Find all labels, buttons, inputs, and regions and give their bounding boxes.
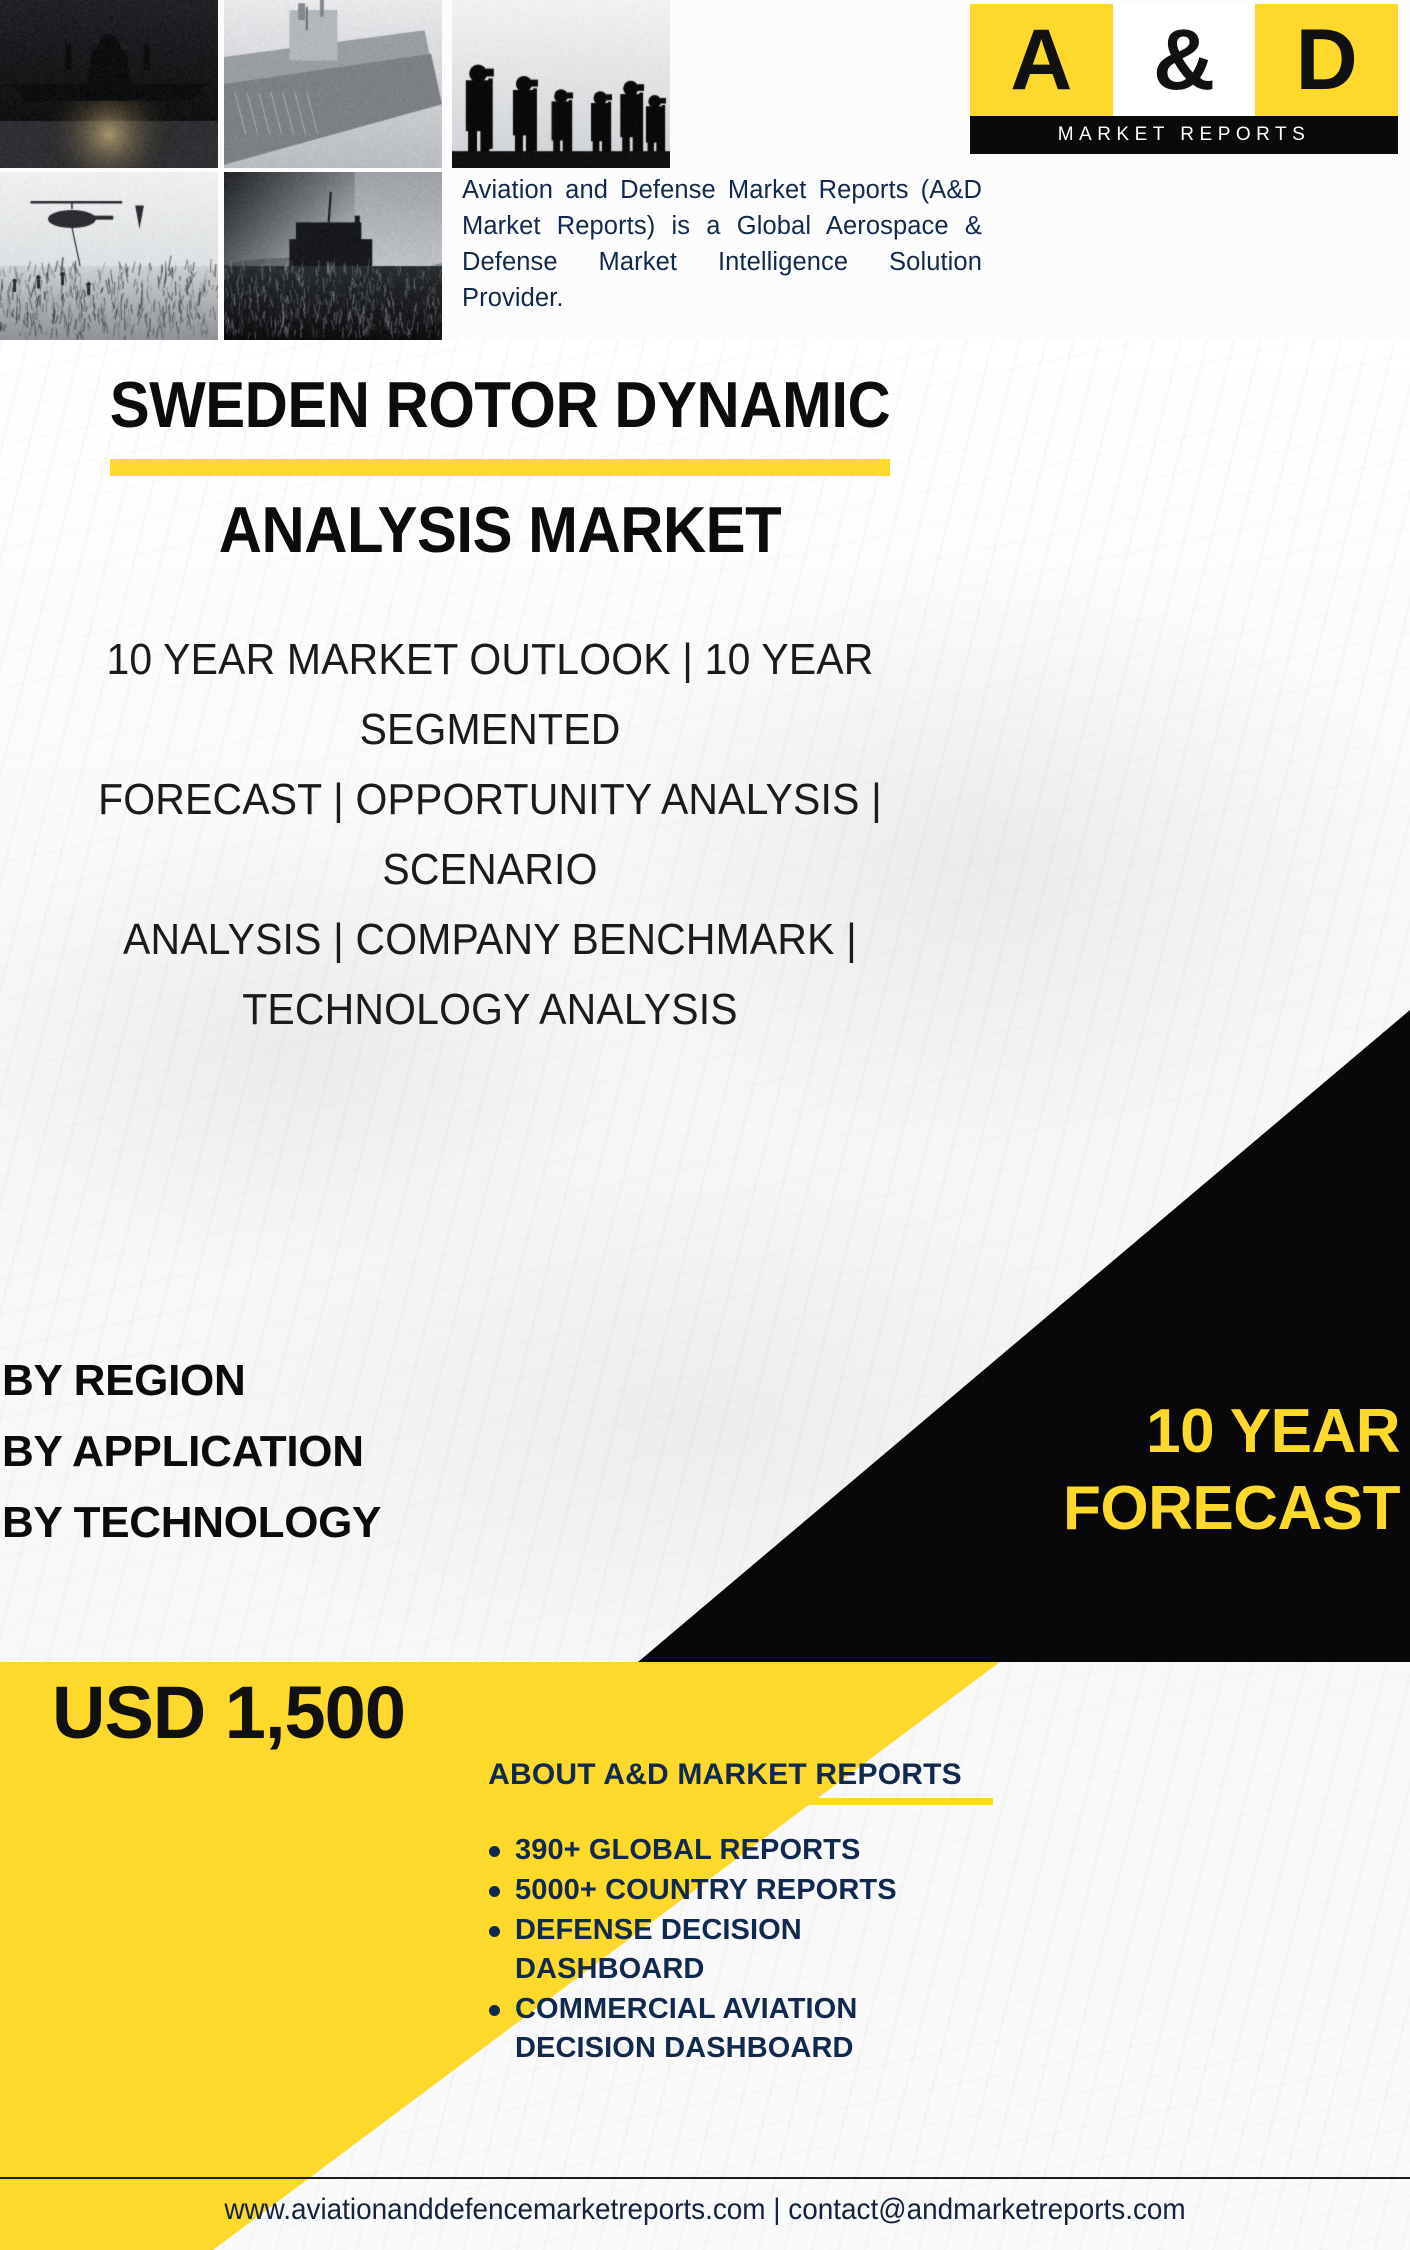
photo-helicopter-troops [0,172,218,340]
company-intro-text: Aviation and Defense Market Reports (A&D… [462,172,982,316]
footer-divider [0,2177,1410,2179]
bullet-dot-icon [489,1926,500,1937]
price-value: USD 1,500 [52,1672,652,1754]
bullet-dot-icon [489,2005,500,2016]
about-yellow-rule [493,1798,993,1805]
segment-item-technology: BY TECHNOLOGY [0,1487,620,1558]
report-title: SWEDEN ROTOR DYNAMIC ANALYSIS MARKET [0,370,1000,565]
bullet-dot-icon [489,1846,500,1857]
report-title-line-1: SWEDEN ROTOR DYNAMIC [40,370,960,440]
about-bullet-item: 5000+ COUNTRY REPORTS [515,1871,995,1910]
forecast-badge: 10 YEAR FORECAST [600,1393,1404,1547]
about-bullet-label: COMMERCIAL AVIATION DECISION DASHBOARD [515,1993,857,2064]
photo-aircraft-carrier [224,0,442,168]
forecast-line-2: FORECAST [600,1470,1400,1547]
segmentation-list: BY REGION BY APPLICATION BY TECHNOLOGY [0,1345,620,1558]
logo-letter-d: D [1255,4,1398,116]
footer-contact[interactable]: www.aviationanddefencemarketreports.com … [49,2186,1360,2234]
logo-tagline-bar: MARKET REPORTS [970,116,1398,154]
photo-fighter-jet [0,0,218,168]
black-diagonal-wedge [638,1010,1410,1662]
forecast-line-1: 10 YEAR [600,1393,1400,1470]
subtitle-line-1: 10 YEAR MARKET OUTLOOK | 10 YEAR SEGMENT… [44,625,937,765]
about-bullet-label: DEFENSE DECISION DASHBOARD [515,1914,802,1985]
about-bullet-label: 390+ GLOBAL REPORTS [515,1834,860,1866]
title-yellow-rule [110,459,890,476]
logo-tagline: MARKET REPORTS [1058,124,1311,146]
segment-item-region: BY REGION [0,1345,620,1416]
subtitle-line-3: ANALYSIS | COMPANY BENCHMARK | [44,905,937,975]
report-title-line-2: ANALYSIS MARKET [40,495,960,565]
subtitle-line-4: TECHNOLOGY ANALYSIS [44,975,937,1045]
logo-letter-row: A & D [970,4,1398,116]
segment-item-application: BY APPLICATION [0,1416,620,1487]
about-bullet-label: 5000+ COUNTRY REPORTS [515,1874,897,1906]
subtitle-line-2: FORECAST | OPPORTUNITY ANALYSIS | SCENAR… [44,765,937,905]
poster-page: A & D MARKET REPORTS Aviation and Defens… [0,0,1410,2250]
report-subtitle: 10 YEAR MARKET OUTLOOK | 10 YEAR SEGMENT… [44,625,937,1045]
about-section: ABOUT A&D MARKET REPORTS 390+ GLOBAL REP… [455,1756,995,2069]
about-bullet-item: COMMERCIAL AVIATION DECISION DASHBOARD [515,1990,995,2068]
about-bullet-item: DEFENSE DECISION DASHBOARD [515,1911,995,1989]
photo-armored-vehicle [224,172,442,340]
logo-letter-ampersand: & [1113,4,1256,116]
brand-logo: A & D MARKET REPORTS [970,4,1398,154]
about-heading: ABOUT A&D MARKET REPORTS [455,1756,995,1794]
about-bullet-item: 390+ GLOBAL REPORTS [515,1831,995,1870]
about-bullet-list: 390+ GLOBAL REPORTS 5000+ COUNTRY REPORT… [455,1831,995,2068]
logo-letter-a: A [970,4,1113,116]
photo-soldiers-silhouette [452,0,670,168]
bullet-dot-icon [489,1886,500,1897]
